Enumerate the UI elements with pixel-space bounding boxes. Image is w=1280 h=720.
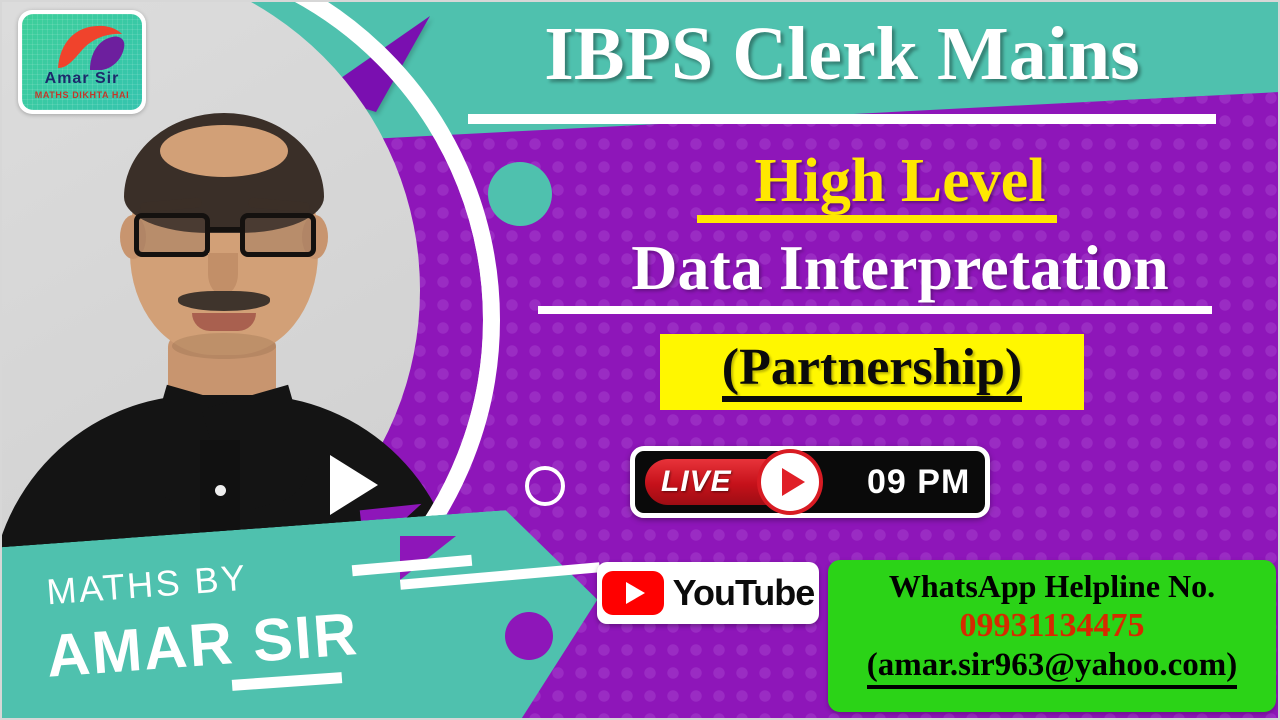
topic-heading-underline	[538, 306, 1212, 314]
level-heading-underline	[697, 215, 1057, 223]
helpline-label: WhatsApp Helpline No.	[828, 568, 1276, 606]
white-play-triangle-icon	[330, 455, 378, 515]
play-icon	[761, 453, 819, 511]
live-time: 09 PM	[867, 463, 970, 502]
youtube-play-icon	[602, 571, 664, 615]
whatsapp-helpline-box: WhatsApp Helpline No. 09931134475 (amar.…	[828, 560, 1276, 712]
subtopic-badge: (Partnership)	[660, 334, 1084, 410]
level-heading: High Level	[520, 150, 1280, 212]
page-title-underline	[468, 114, 1216, 124]
brand-logo-name: Amar Sir	[22, 70, 142, 88]
brand-logo-tagline: MATHS DIKHTA HAI	[22, 90, 142, 100]
youtube-label: YouTube	[673, 572, 815, 614]
purple-circle-shape	[505, 612, 553, 660]
live-label: LIVE	[661, 465, 732, 499]
thumbnail-canvas: MATHS BY AMAR SIR Amar Sir MATHS DIKHTA …	[0, 0, 1280, 720]
white-circle-outline-shape	[525, 466, 565, 506]
topic-heading: Data Interpretation	[520, 236, 1280, 300]
page-title: IBPS Clerk Mains	[462, 16, 1222, 94]
helpline-phone: 09931134475	[828, 606, 1276, 646]
swoosh-logo-icon	[50, 20, 128, 72]
brand-logo: Amar Sir MATHS DIKHTA HAI	[18, 10, 146, 114]
youtube-badge[interactable]: YouTube	[597, 562, 819, 624]
brand-logo-inner: Amar Sir MATHS DIKHTA HAI	[22, 14, 142, 110]
helpline-email: (amar.sir963@yahoo.com)	[867, 646, 1237, 690]
live-badge: LIVE 09 PM	[630, 446, 990, 518]
live-pill: LIVE	[645, 459, 805, 505]
subtopic-label: (Partnership)	[722, 342, 1022, 402]
